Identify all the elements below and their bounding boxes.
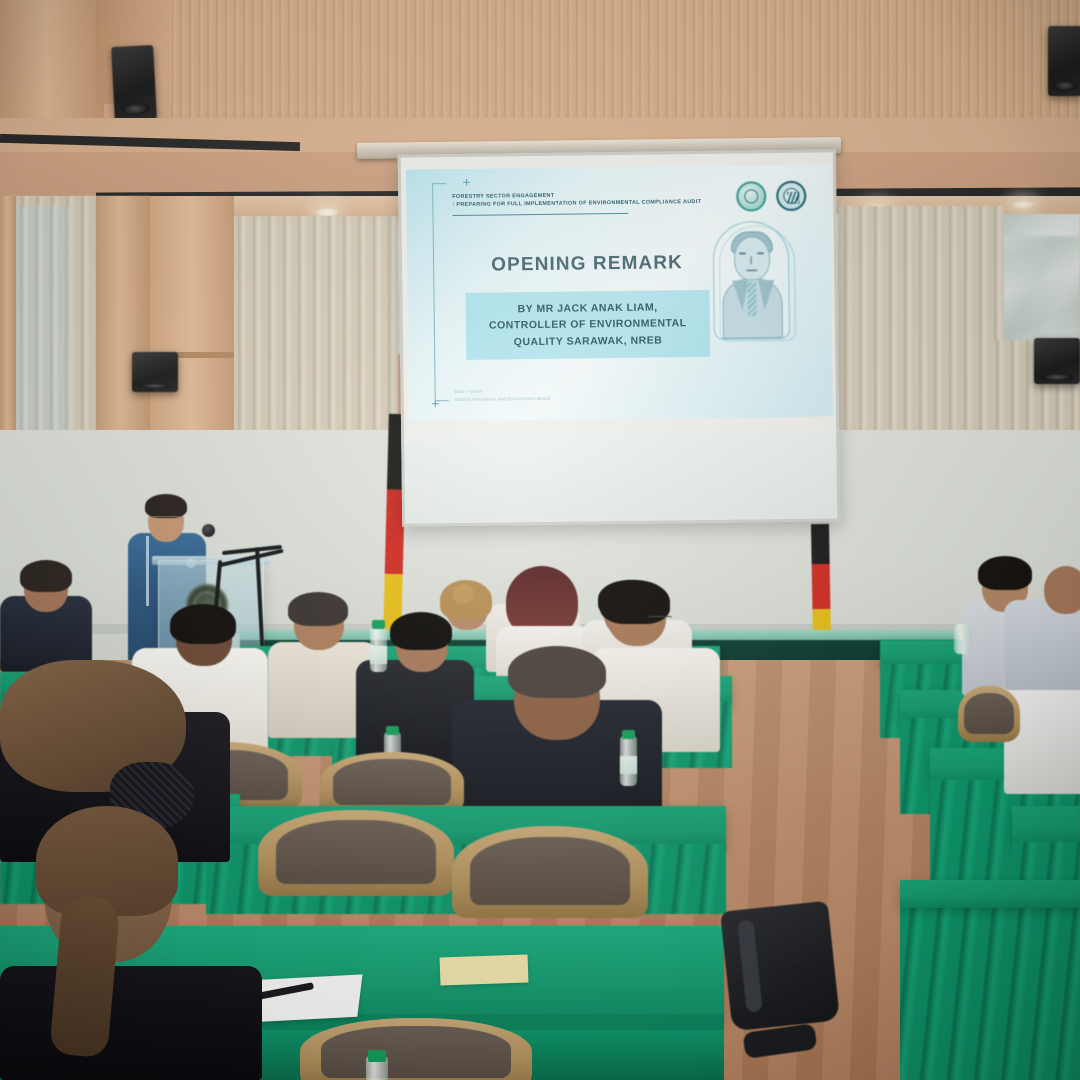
presenter-glasses: [152, 516, 180, 521]
slide-subtitle-line2: CONTROLLER OF ENVIRONMENTAL: [470, 315, 706, 334]
wall-mounted-loudspeaker-top-right: [1048, 26, 1080, 96]
bottle-cap-2: [386, 726, 399, 735]
slide-title: OPENING REMARK: [465, 252, 709, 277]
portrait-lapel-left: [732, 280, 748, 310]
chair-right-1: [958, 686, 1020, 742]
presenter-shirt-placket: [146, 536, 149, 606]
chair-pad: [470, 837, 631, 905]
wall-mounted-loudspeaker-left: [111, 45, 157, 121]
seal-stripes-icon: [787, 192, 799, 204]
slide-crosshair-bottom: [432, 400, 439, 407]
bottle-label-1: [370, 646, 387, 664]
speaker-portrait-illustration: [713, 221, 790, 340]
yellow-note-card: [440, 954, 529, 985]
projection-screen: FORESTRY SECTOR ENGAGEMENT : PREPARING F…: [398, 149, 841, 526]
attendee-hair-dark-suit: [390, 612, 452, 650]
portrait-nose: [750, 256, 752, 264]
gooseneck-microphone-head-left: [202, 524, 215, 537]
slide-footer: Date / venue Natural Resources and Envir…: [455, 386, 645, 403]
wall-mounted-loudspeaker-pilaster-left: [132, 352, 178, 392]
bottle-label-3: [620, 756, 637, 774]
portrait-frame: [713, 221, 790, 340]
presenter-hair: [145, 494, 187, 518]
chair-foreground-left: [258, 810, 454, 896]
attendee-hair-left-far: [20, 560, 72, 592]
chair-pad: [321, 1026, 511, 1078]
portrait-mouth: [746, 269, 757, 271]
chair-pad: [276, 820, 437, 884]
backpack-on-floor: [720, 901, 840, 1032]
attendee-hair-right-1: [978, 556, 1032, 590]
attendee-glasses-mid-right: [648, 616, 672, 621]
slide-subtitle-line3: QUALITY SARAWAK, NREB: [470, 331, 706, 350]
portrait-lapel-right: [758, 280, 774, 310]
table-drape-foreground-right: [900, 900, 1080, 1080]
slide-corner-frame: [432, 183, 449, 401]
attendee-head-right-back: [1044, 566, 1080, 614]
slide-header: FORESTRY SECTOR ENGAGEMENT : PREPARING F…: [452, 189, 742, 209]
slide-subtitle-block: BY MR JACK ANAK LIAM, CONTROLLER OF ENVI…: [465, 290, 710, 360]
bottle-cap-1: [372, 620, 385, 629]
mineral-water-bottle-right: [954, 624, 971, 654]
chair-foreground-right: [452, 826, 648, 918]
attendee-hair-crown-ponytail: [36, 806, 178, 916]
slide-crosshair-top: [463, 179, 470, 186]
ceiling-downlight-4: [1012, 200, 1034, 209]
screen-blank-area: [404, 430, 837, 523]
attendee-hair-mid-white: [170, 604, 236, 644]
slide-footer-line2: Natural Resources and Environment Board: [455, 393, 645, 403]
attendee-hair-mid-beige: [288, 592, 348, 626]
table-row-right-4: [1012, 806, 1080, 846]
conference-hall-photo: FORESTRY SECTOR ENGAGEMENT : PREPARING F…: [0, 0, 1080, 1080]
seated-attendee-foreground-ponytail: [0, 966, 262, 1080]
attendee-hair-foreground-dark: [508, 646, 606, 698]
chair-pad: [964, 693, 1015, 734]
chair-mid-center: [320, 752, 464, 814]
agency-seal-logo: [776, 181, 806, 211]
table-foreground-right-top: [900, 880, 1080, 908]
presentation-slide: FORESTRY SECTOR ENGAGEMENT : PREPARING F…: [406, 164, 833, 421]
chair-pad: [333, 759, 451, 805]
wall-corner-left: [0, 0, 104, 132]
attendee-hair-bun-knot: [452, 584, 474, 604]
sarawak-flag-right: [811, 524, 831, 642]
bottle-cap-3: [622, 730, 635, 739]
chair-foreground-center: [300, 1018, 532, 1080]
portrait-tie: [747, 282, 756, 316]
nreb-logo: [736, 181, 766, 211]
bottle-cap-foreground: [368, 1050, 386, 1062]
wall-mounted-loudspeaker-pilaster-right: [1034, 338, 1080, 384]
slide-header-rule: [452, 213, 628, 216]
